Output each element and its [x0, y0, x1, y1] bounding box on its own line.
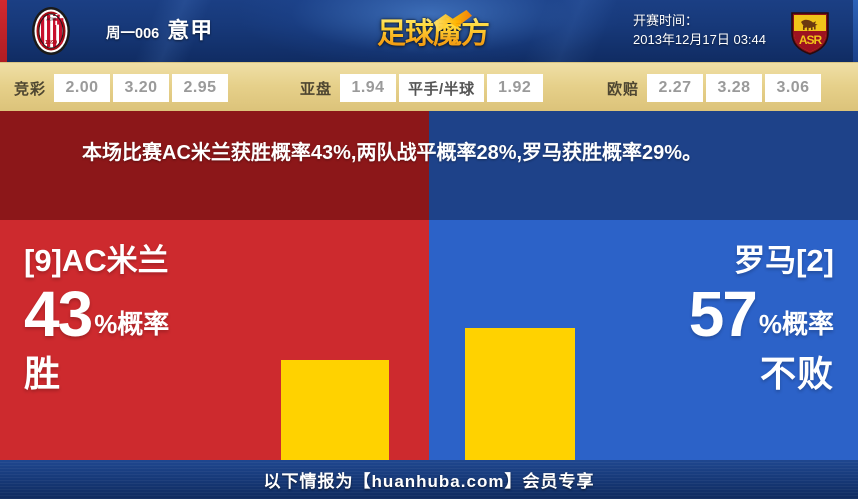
- odds-cell-handicap[interactable]: 平手/半球: [399, 74, 484, 102]
- odds-group-oupei: 欧赔 2.27 3.28 3.06: [607, 74, 821, 102]
- home-probability-value: 43: [24, 284, 91, 344]
- match-preview-card: 1899 ACM 周一006 意甲 足球魔方 开赛时间： 2013年12月17日…: [0, 0, 858, 499]
- svg-text:1899: 1899: [45, 40, 57, 46]
- odds-cell[interactable]: 3.20: [113, 74, 169, 102]
- odds-group-label: 欧赔: [607, 74, 644, 102]
- home-probability-line: 43 %概率: [24, 284, 169, 344]
- odds-cell[interactable]: 3.06: [765, 74, 821, 102]
- odds-cell[interactable]: 1.94: [340, 74, 396, 102]
- as-roma-crest-icon: ASR: [784, 5, 836, 57]
- away-team-name: 罗马[2]: [689, 242, 834, 280]
- home-probability-suffix: %概率: [91, 311, 169, 344]
- away-team-info: 罗马[2] 57 %概率 不败: [689, 242, 834, 396]
- summary-banner: 本场比赛AC米兰获胜概率43%,两队战平概率28%,罗马获胜概率29%。: [0, 111, 858, 220]
- footer-bar: 以下情报为【huanhuba.com】会员专享: [0, 460, 858, 499]
- away-probability-bar: [465, 328, 575, 460]
- away-probability-suffix: %概率: [756, 311, 834, 344]
- odds-cell[interactable]: 2.00: [54, 74, 110, 102]
- ac-milan-crest-icon: 1899 ACM: [25, 5, 77, 57]
- odds-group-label: 竞彩: [14, 74, 51, 102]
- kickoff-time: 2013年12月17日 03:44: [633, 30, 766, 49]
- kickoff-info: 开赛时间： 2013年12月17日 03:44: [633, 11, 766, 49]
- odds-bar: 竞彩 2.00 3.20 2.95 亚盘 1.94 平手/半球 1.92 欧赔 …: [0, 62, 858, 111]
- away-outcome-label: 不败: [689, 352, 834, 396]
- brand-logo: 足球魔方: [358, 4, 508, 58]
- match-league: 意甲: [167, 13, 213, 45]
- away-probability-value: 57: [689, 284, 756, 344]
- home-team-panel: [9]AC米兰 43 %概率 胜: [0, 220, 429, 460]
- odds-cell[interactable]: 2.27: [647, 74, 703, 102]
- home-team-name: [9]AC米兰: [24, 242, 169, 280]
- odds-group-label: 亚盘: [300, 74, 337, 102]
- odds-cell[interactable]: 1.92: [487, 74, 543, 102]
- away-probability-line: 57 %概率: [689, 284, 834, 344]
- probability-chart: [9]AC米兰 43 %概率 胜 罗马[2] 57 %概率 不败: [0, 220, 858, 460]
- header-left-stripe: [0, 0, 7, 62]
- home-probability-bar: [281, 360, 389, 460]
- match-title: 周一006 意甲: [106, 13, 213, 45]
- odds-cell[interactable]: 2.95: [172, 74, 228, 102]
- summary-text: 本场比赛AC米兰获胜概率43%,两队战平概率28%,罗马获胜概率29%。: [82, 137, 782, 170]
- away-team-panel: 罗马[2] 57 %概率 不败: [429, 220, 858, 460]
- odds-group-jingcai: 竞彩 2.00 3.20 2.95: [14, 74, 228, 102]
- svg-text:ACM: ACM: [46, 17, 56, 22]
- footer-text: 以下情报为【huanhuba.com】会员专享: [264, 467, 595, 492]
- home-team-info: [9]AC米兰 43 %概率 胜: [24, 242, 169, 396]
- odds-cell[interactable]: 3.28: [706, 74, 762, 102]
- svg-text:ASR: ASR: [799, 33, 823, 47]
- match-number: 周一006: [106, 22, 159, 43]
- header-right-stripe: [853, 0, 858, 62]
- header-bar: 1899 ACM 周一006 意甲 足球魔方 开赛时间： 2013年12月17日…: [0, 0, 858, 62]
- odds-group-yapan: 亚盘 1.94 平手/半球 1.92: [300, 74, 543, 102]
- kickoff-label: 开赛时间：: [633, 11, 766, 30]
- home-outcome-label: 胜: [24, 352, 169, 396]
- brand-logo-text: 足球魔方: [377, 10, 489, 52]
